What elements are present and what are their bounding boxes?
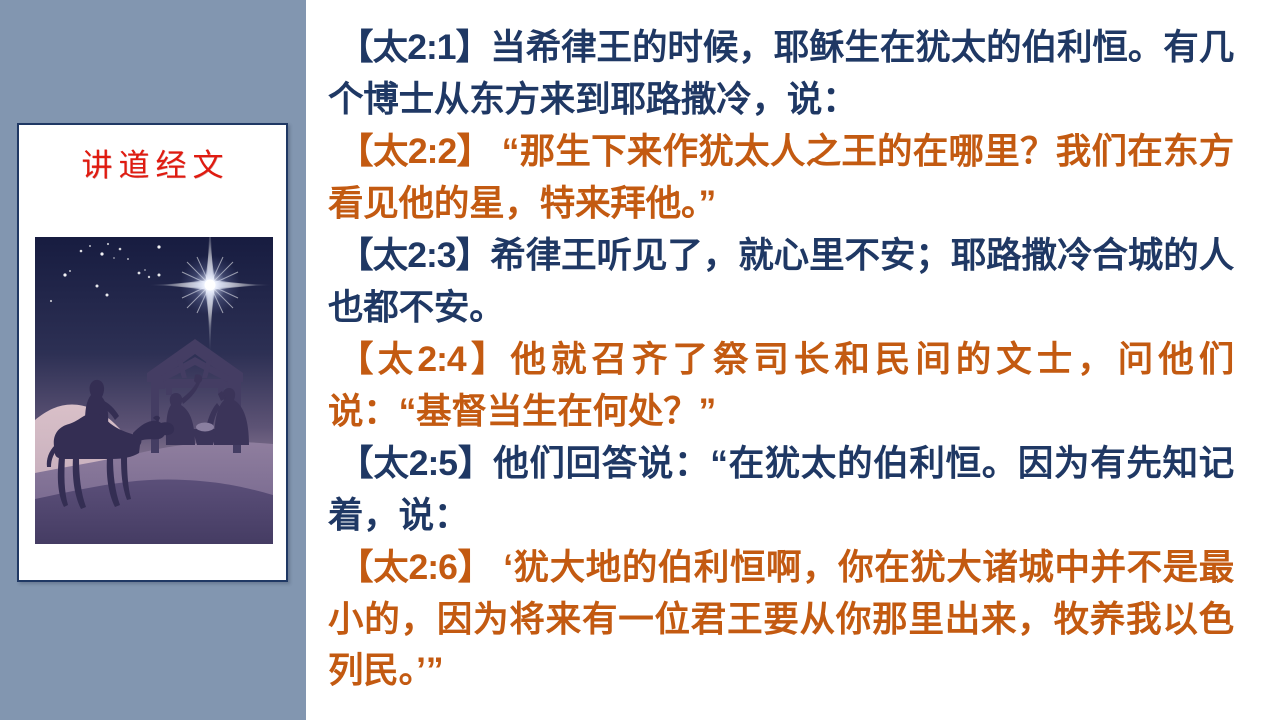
verse-matthew-2-1: 【太2:1】当希律王的时候，耶稣生在犹太的伯利恒。有几个博士从东方来到耶路撒冷，…	[328, 22, 1234, 125]
slide-canvas: 讲道经文	[0, 0, 1280, 720]
scripture-title-card: 讲道经文	[17, 123, 288, 582]
card-heading: 讲道经文	[19, 151, 286, 182]
verse-ref: 【太2:2】	[338, 131, 492, 171]
verse-matthew-2-4: 【太2:4】他就召齐了祭司长和民间的文士，问他们说：“基督当生在何处？”	[328, 334, 1234, 437]
nativity-svg	[35, 237, 273, 544]
verse-matthew-2-3: 【太2:3】希律王听见了，就心里不安；耶路撒冷合城的人也都不安。	[328, 230, 1234, 333]
verse-matthew-2-2: 【太2:2】 “那生下来作犹太人之王的在哪里？我们在东方看见他的星，特来拜他。”	[328, 126, 1234, 229]
verse-matthew-2-5: 【太2:5】他们回答说：“在犹太的伯利恒。因为有先知记着，说：	[328, 438, 1234, 541]
verse-ref: 【太2:1】	[338, 27, 490, 67]
verse-ref: 【太2:5】	[338, 443, 493, 483]
verse-matthew-2-6: 【太2:6】 ‘犹大地的伯利恒啊，你在犹大诸城中并不是最小的，因为将来有一位君王…	[328, 542, 1234, 697]
verse-ref: 【太2:3】	[338, 235, 490, 275]
nativity-illustration	[35, 237, 273, 544]
verse-ref: 【太2:6】	[338, 547, 493, 587]
verse-ref: 【太2:4】	[338, 339, 511, 379]
scripture-text-block: 【太2:1】当希律王的时候，耶稣生在犹太的伯利恒。有几个博士从东方来到耶路撒冷，…	[328, 22, 1234, 712]
